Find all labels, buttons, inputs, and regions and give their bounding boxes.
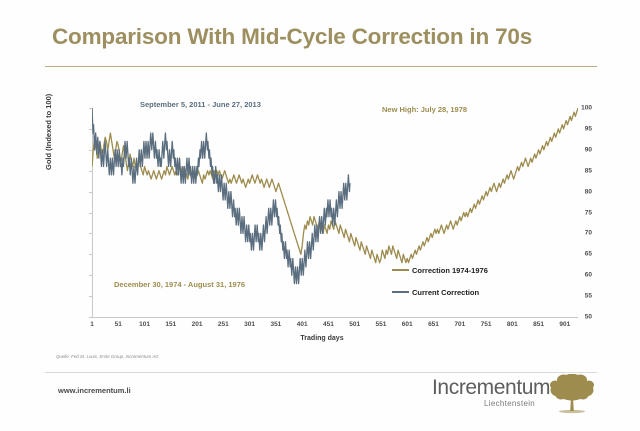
x-tick-label: 551: [369, 321, 393, 328]
x-tick-label: 501: [343, 321, 367, 328]
chart-legend: Correction 1974-1976Current Correction: [392, 259, 488, 303]
series-line: [92, 108, 350, 284]
legend-label: Current Correction: [412, 288, 479, 297]
x-axis-label: Trading days: [52, 335, 592, 342]
x-tick-label: 401: [290, 321, 314, 328]
slide-canvas: Comparison With Mid-Cycle Correction in …: [0, 0, 640, 431]
logo-subtitle: Liechtenstein: [484, 399, 535, 408]
x-tick-label: 201: [185, 321, 209, 328]
incrementum-logo: Incrementum Liechtenstein: [432, 376, 597, 420]
legend-item[interactable]: Current Correction: [392, 281, 488, 303]
x-tick-label: 151: [159, 321, 183, 328]
x-tick-label: 651: [422, 321, 446, 328]
x-tick-label: 901: [553, 321, 577, 328]
legend-label: Correction 1974-1976: [412, 266, 488, 275]
x-tick-label: 451: [316, 321, 340, 328]
footer-divider: [45, 372, 597, 373]
x-tick-label: 801: [500, 321, 524, 328]
x-tick-label: 1: [80, 321, 104, 328]
x-tick-label: 351: [264, 321, 288, 328]
x-tick-label: 851: [527, 321, 551, 328]
title-divider: [45, 66, 597, 67]
legend-item[interactable]: Correction 1974-1976: [392, 259, 488, 281]
x-tick-label: 101: [133, 321, 157, 328]
tree-icon: [546, 374, 598, 416]
footer-website-link[interactable]: www.incrementum.li: [58, 386, 131, 395]
chart-container: Gold (Indexed to 100) 505560657075808590…: [52, 92, 592, 364]
x-tick-label: 751: [474, 321, 498, 328]
source-note: Quelle: Fed St. Louis, Erste Group, Incr…: [56, 354, 159, 359]
logo-wordmark: Incrementum: [432, 376, 550, 400]
x-axis-line: [92, 317, 578, 318]
x-tick-label: 601: [395, 321, 419, 328]
legend-swatch: [392, 269, 409, 271]
x-tick-label: 701: [448, 321, 472, 328]
page-title: Comparison With Mid-Cycle Correction in …: [52, 24, 612, 50]
x-tick-label: 301: [238, 321, 262, 328]
x-tick-label: 251: [211, 321, 235, 328]
annotation-new-high: New High: July 28, 1978: [382, 105, 467, 114]
y-axis-label: Gold (Indexed to 100): [44, 94, 53, 170]
series-line: [92, 108, 578, 263]
annotation-historic-period: December 30, 1974 - August 31, 1976: [114, 280, 245, 289]
x-tick-label: 51: [106, 321, 130, 328]
legend-swatch: [392, 291, 409, 293]
annotation-current-period: September 5, 2011 - June 27, 2013: [140, 100, 261, 109]
